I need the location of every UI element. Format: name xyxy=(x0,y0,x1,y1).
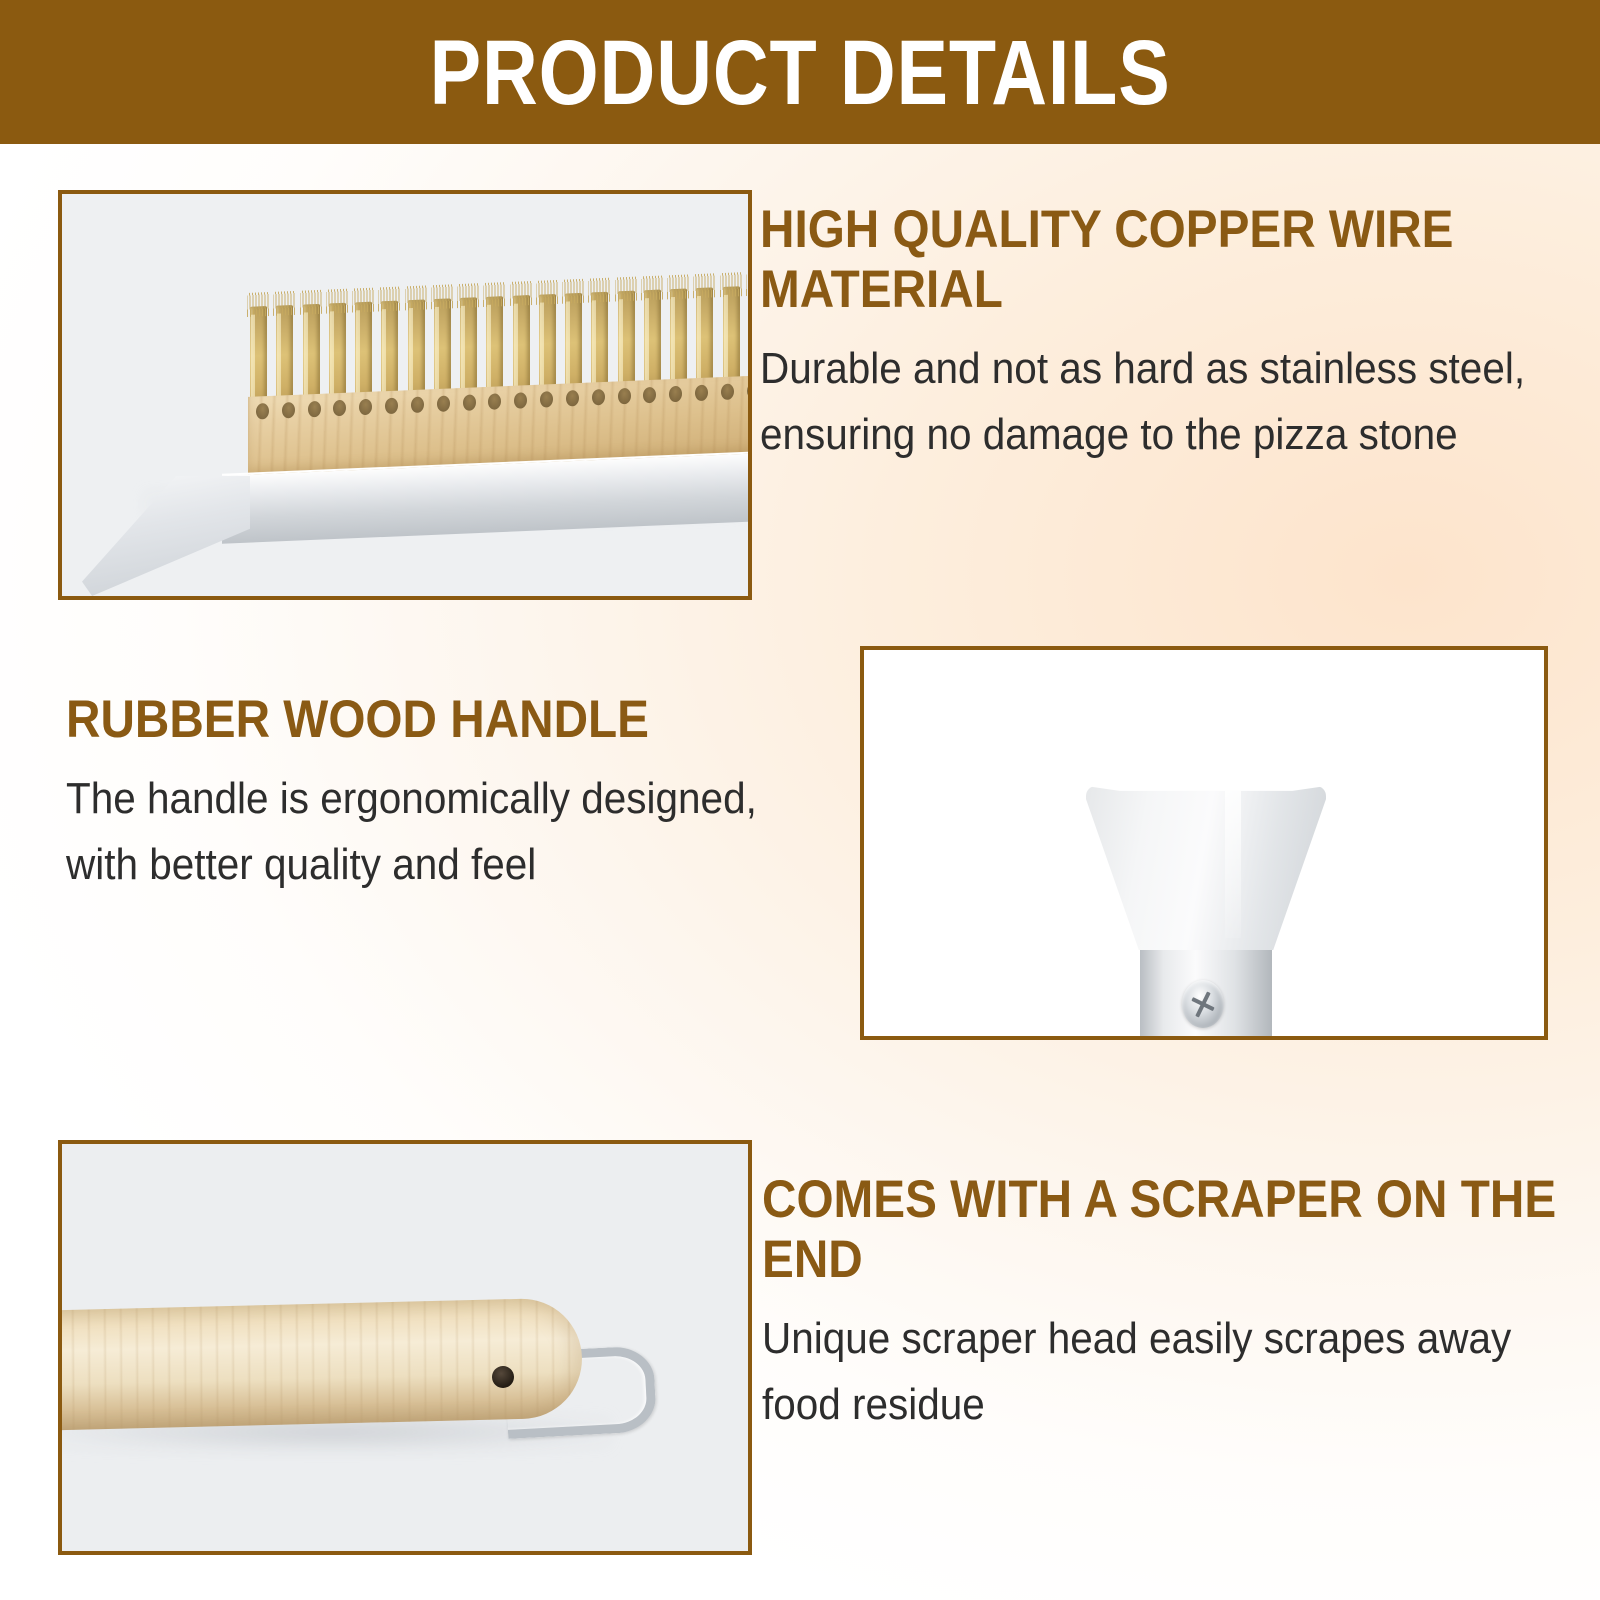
feature-heading-scraper-on-end: COMES WITH A SCRAPER ON THE END xyxy=(762,1170,1561,1290)
scraper-blade xyxy=(1086,786,1326,950)
phillips-screw-icon xyxy=(1182,980,1224,1028)
product-image-wooden-handle xyxy=(58,1140,752,1555)
feature-block-scraper-on-end: COMES WITH A SCRAPER ON THE END Unique s… xyxy=(762,1170,1562,1438)
steel-scraper-tip xyxy=(82,476,250,596)
product-details-page: PRODUCT DETAILS HIGH QUALITY xyxy=(0,0,1600,1600)
feature-body-scraper-on-end: Unique scraper head easily scrapes away … xyxy=(762,1306,1557,1438)
brush-head-photo xyxy=(62,194,748,596)
header-banner: PRODUCT DETAILS xyxy=(0,0,1600,144)
page-title: PRODUCT DETAILS xyxy=(429,25,1170,121)
feature-heading-rubber-wood-handle: RUBBER WOOD HANDLE xyxy=(66,690,795,750)
rubber-wood-rod xyxy=(62,1297,583,1430)
product-image-scraper-head xyxy=(860,646,1548,1040)
feature-body-copper-wire: Durable and not as hard as stainless ste… xyxy=(760,336,1555,468)
feature-block-rubber-wood-handle: RUBBER WOOD HANDLE The handle is ergonom… xyxy=(66,690,796,898)
feature-block-copper-wire: HIGH QUALITY COPPER WIRE MATERIAL Durabl… xyxy=(760,200,1560,468)
scraper-head-photo xyxy=(864,650,1544,1036)
wooden-handle-photo xyxy=(62,1144,748,1551)
feature-body-rubber-wood-handle: The handle is ergonomically designed, wi… xyxy=(66,766,791,898)
feature-heading-copper-wire: HIGH QUALITY COPPER WIRE MATERIAL xyxy=(760,200,1559,320)
product-image-brush-head xyxy=(58,190,752,600)
